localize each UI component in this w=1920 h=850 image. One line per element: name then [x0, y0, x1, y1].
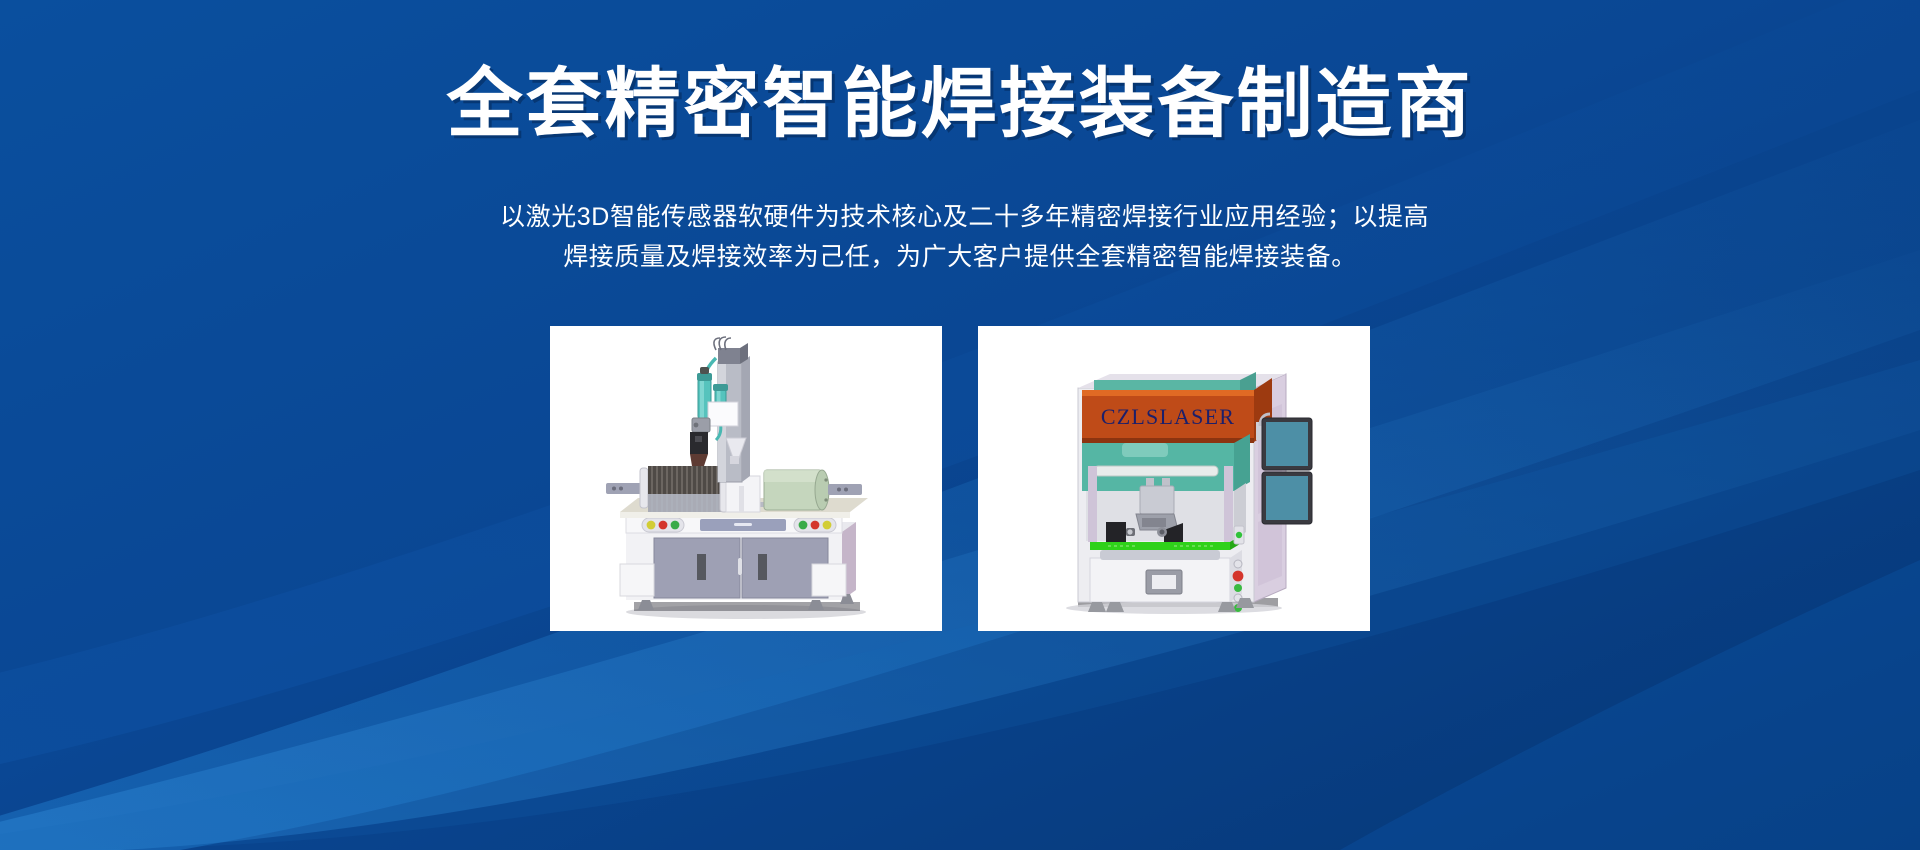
product-card-list: CZLSLASER	[550, 326, 1370, 631]
headline-container: 全套精密智能焊接装备制造商	[0, 62, 1920, 147]
subheading-container: 以激光3D智能传感器软硬件为技术核心及二十多年精密焊接行业应用经验；以提高 焊接…	[500, 197, 1420, 277]
welding-workstation-illustration	[550, 326, 942, 631]
brand-label: CZLSLASER	[1101, 404, 1235, 429]
laser-cabinet-illustration: CZLSLASER	[978, 326, 1370, 631]
dual-monitor-stack	[1256, 414, 1312, 524]
page-title: 全套精密智能焊接装备制造商	[0, 62, 1920, 147]
subheading-line-2: 焊接质量及焊接效率为己任，为广大客户提供全套精密智能焊接装备。	[500, 237, 1420, 277]
product-card-laser-cabinet[interactable]: CZLSLASER	[978, 326, 1370, 631]
indicator-lights-right	[794, 518, 836, 532]
subheading-line-1: 以激光3D智能传感器软硬件为技术核心及二十多年精密焊接行业应用经验；以提高	[500, 197, 1420, 237]
indicator-lights-left	[642, 518, 684, 532]
product-card-welding-workstation[interactable]	[550, 326, 942, 631]
hero-banner: 全套精密智能焊接装备制造商 以激光3D智能传感器软硬件为技术核心及二十多年精密焊…	[0, 0, 1920, 850]
